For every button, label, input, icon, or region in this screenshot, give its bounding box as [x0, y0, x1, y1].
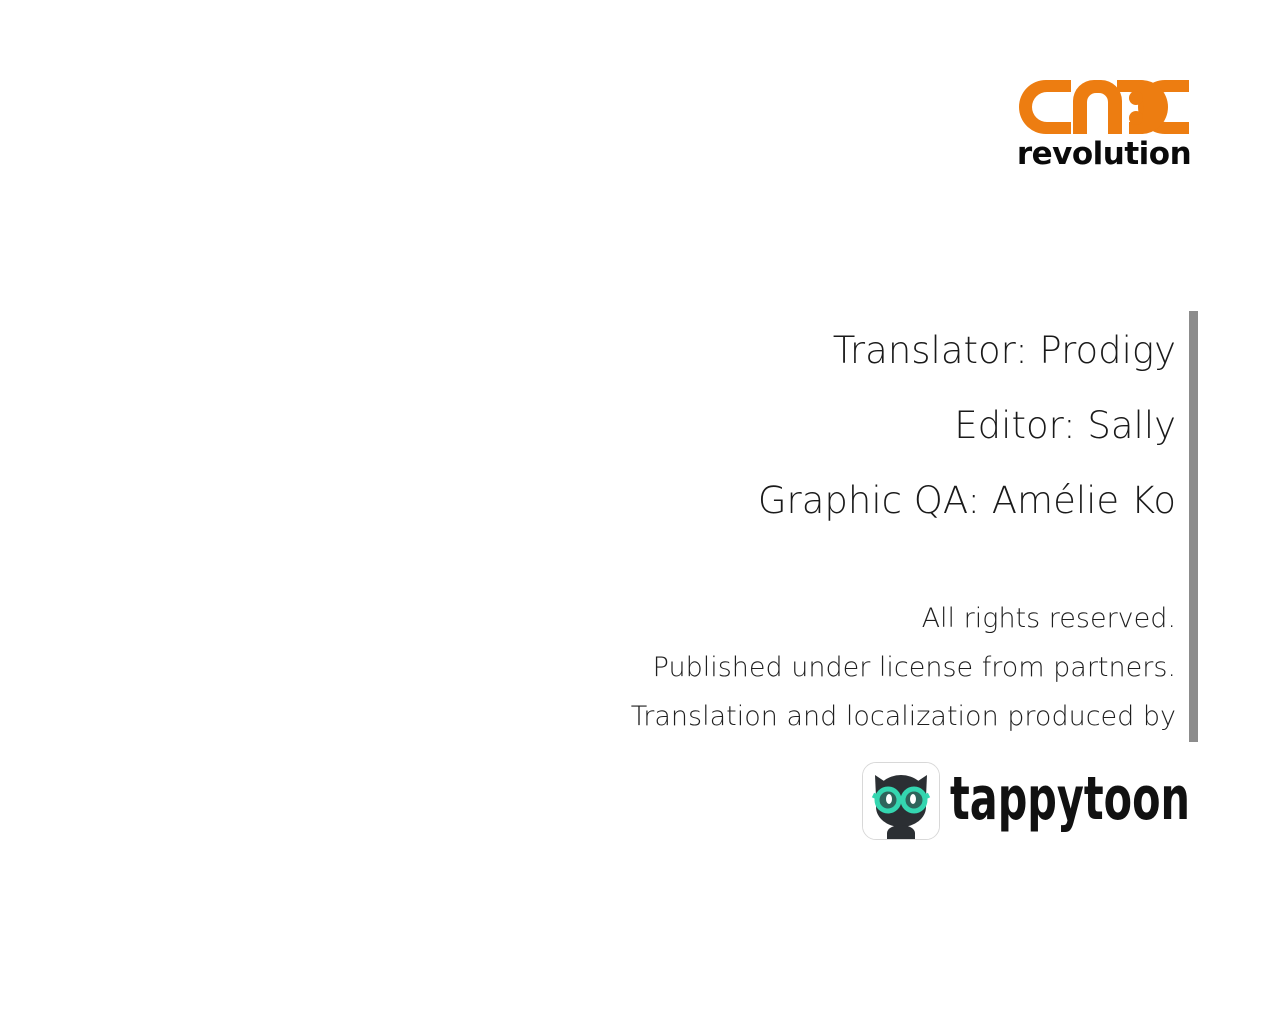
legal-line-license: Published under license from partners. — [360, 643, 1176, 692]
legal-notice: All rights reserved. Published under lic… — [360, 594, 1176, 741]
legal-line-localization: Translation and localization produced by — [360, 692, 1176, 741]
cnc-wordmark: revolution — [1013, 136, 1195, 172]
credits-list: Translator: Prodigy Editor: Sally Graphi… — [360, 313, 1176, 538]
tappytoon-lockup: tappytoon — [862, 762, 1192, 842]
credit-line-editor: Editor: Sally — [360, 388, 1176, 463]
tappytoon-wordmark: tappytoon — [950, 764, 1192, 836]
credits-page: revolution Translator: Prodigy Editor: S… — [0, 0, 1280, 1030]
tappytoon-cat-icon — [862, 762, 940, 840]
cnc-revolution-logo: revolution — [1013, 78, 1195, 173]
legal-line-rights: All rights reserved. — [360, 594, 1176, 643]
cnc-mark-icon — [1013, 78, 1195, 136]
credit-line-translator: Translator: Prodigy — [360, 313, 1176, 388]
svg-text:tappytoon: tappytoon — [950, 764, 1190, 833]
vertical-divider — [1189, 311, 1198, 742]
credit-line-graphic-qa: Graphic QA: Amélie Ko — [360, 463, 1176, 538]
